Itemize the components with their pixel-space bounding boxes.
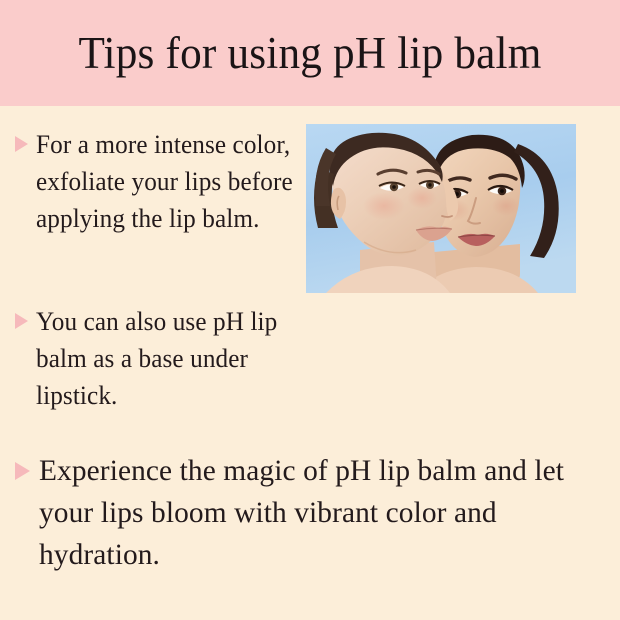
- photo-illustration: [306, 124, 576, 293]
- content-area: For a more intense color, exfoliate your…: [0, 106, 620, 620]
- list-item-label: Experience the magic of pH lip balm and …: [39, 450, 599, 576]
- triangle-right-marker: [15, 136, 28, 152]
- list-item: Experience the magic of pH lip balm and …: [15, 450, 610, 576]
- poster-canvas: Tips for using pH lip balm: [0, 0, 620, 620]
- triangle-right-marker: [15, 313, 28, 329]
- list-item-label: For a more intense color, exfoliate your…: [36, 126, 297, 237]
- list-item: You can also use pH lip balm as a base u…: [15, 303, 305, 414]
- page-title: Tips for using pH lip balm: [12, 0, 607, 106]
- two-women-faces-photo: [306, 124, 576, 293]
- list-item-label: You can also use pH lip balm as a base u…: [36, 303, 297, 414]
- list-item: For a more intense color, exfoliate your…: [15, 126, 305, 237]
- triangle-right-marker: [15, 462, 30, 480]
